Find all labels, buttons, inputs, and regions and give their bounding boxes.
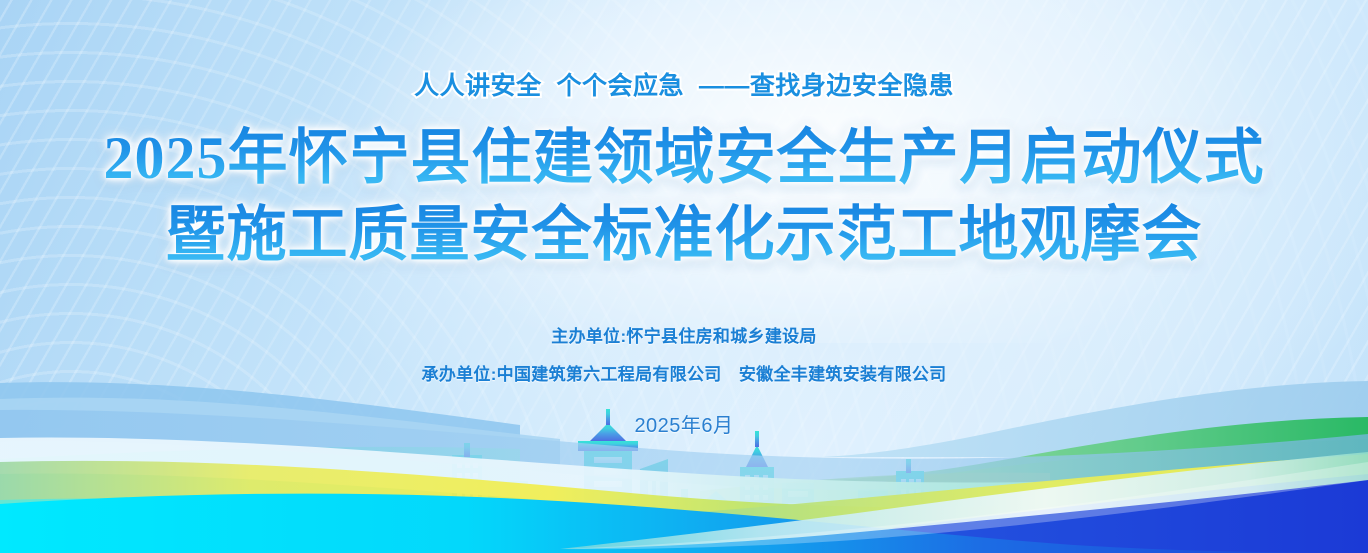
- banner-slogan: 人人讲安全 个个会应急 ——查找身边安全隐患: [0, 66, 1368, 102]
- event-date: 2025年6月: [0, 409, 1368, 438]
- title-line-2: 暨施工质量安全标准化示范工地观摩会: [0, 197, 1368, 274]
- banner-content: 人人讲安全 个个会应急 ——查找身边安全隐患 2025年怀宁县住建领域安全生产月…: [0, 0, 1368, 438]
- title-line-1: 2025年怀宁县住建领域安全生产月启动仪式: [0, 120, 1368, 197]
- organizer-line: 主办单位:怀宁县住房和城乡建设局: [0, 318, 1368, 357]
- co-organizer-line: 承办单位:中国建筑第六工程局有限公司 安徽全丰建筑安装有限公司: [0, 356, 1368, 395]
- event-banner: 人人讲安全 个个会应急 ——查找身边安全隐患 2025年怀宁县住建领域安全生产月…: [0, 0, 1368, 553]
- organizer-block: 主办单位:怀宁县住房和城乡建设局 承办单位:中国建筑第六工程局有限公司 安徽全丰…: [0, 318, 1368, 439]
- banner-title: 2025年怀宁县住建领域安全生产月启动仪式 暨施工质量安全标准化示范工地观摩会: [0, 120, 1368, 274]
